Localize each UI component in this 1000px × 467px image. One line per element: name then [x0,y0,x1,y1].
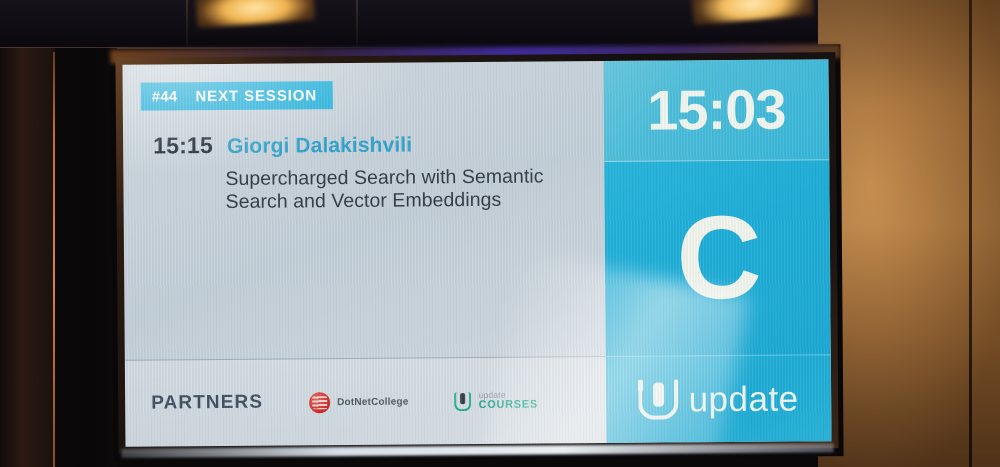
ceiling-seam [356,0,358,48]
partners-bar: PARTNERS DotNetCollege [125,356,607,447]
left-wall-panel [0,48,56,467]
status-column: 15:03 C update [603,59,831,443]
session-column: #44 NEXT SESSION 15:15 Giorgi Dalakishvi… [123,61,607,447]
session-heading: 15:15 Giorgi Dalakishvili [141,129,604,160]
screen-content: #44 NEXT SESSION 15:15 Giorgi Dalakishvi… [123,59,832,447]
next-session-badge: #44 NEXT SESSION [141,81,334,111]
partner-logo-dotnetcollege: DotNetCollege [309,391,409,413]
u-bar-shape [653,383,664,407]
monitor-bezel: #44 NEXT SESSION 15:15 Giorgi Dalakishvi… [115,52,838,454]
u-ring-top-left [638,380,643,392]
partner-name: DotNetCollege [337,396,409,408]
brand-logo-panel: update [606,355,832,443]
room-panel: C [604,160,831,357]
u-ring-top-right [674,379,679,391]
session-title: Supercharged Search with Semantic Search… [225,165,570,214]
left-wall-dark-panel [55,48,117,467]
update-u-icon [454,391,471,412]
session-info-area: #44 NEXT SESSION 15:15 Giorgi Dalakishvi… [123,61,606,360]
badge-row: #44 NEXT SESSION [141,79,604,111]
current-time: 15:03 [647,82,786,139]
partner-wordmark: update COURSES [478,390,537,411]
session-speaker-name: Giorgi Dalakishvili [227,134,412,159]
status-badge: NEXT SESSION [195,87,317,105]
photo-of-digital-signage-screen: #44 NEXT SESSION 15:15 Giorgi Dalakishvi… [0,0,1000,467]
brand-wordmark: update [688,381,798,417]
ceiling-light-icon [690,0,813,25]
partner-name: COURSES [479,400,538,411]
u-bar-shape [461,393,466,404]
room-letter: C [676,209,759,306]
right-wall-seam [969,0,972,467]
partners-label: PARTNERS [151,392,263,415]
ceiling-light-icon [195,0,316,28]
right-wall-wood-panel [818,0,1000,467]
red-seal-icon [309,392,330,413]
session-number: #44 [152,88,178,105]
ceiling-seam [186,0,188,48]
seal-inner-detail [312,396,327,409]
partner-logo-update-courses: update COURSES [454,390,537,412]
signage-monitor: #44 NEXT SESSION 15:15 Giorgi Dalakishvi… [110,44,843,462]
session-start-time: 15:15 [141,132,213,160]
clock-panel: 15:03 [603,59,829,162]
update-u-logo-icon [638,377,678,421]
